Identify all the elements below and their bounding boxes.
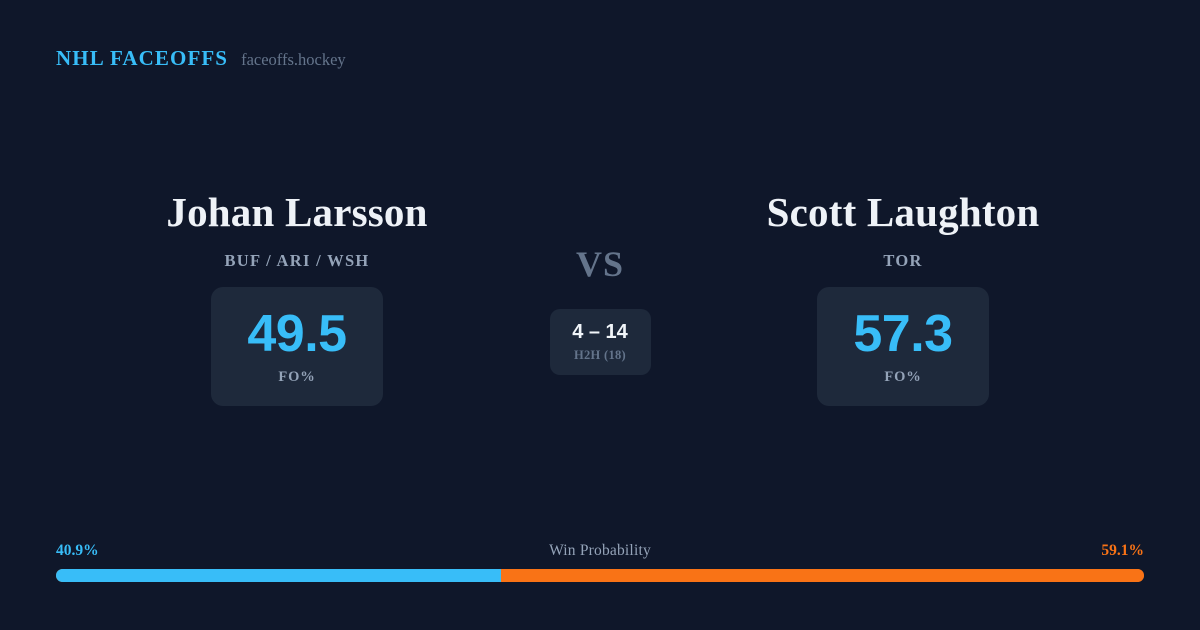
win-probability-bar-left-segment bbox=[56, 569, 501, 582]
win-probability-section: 40.9% Win Probability 59.1% bbox=[56, 542, 1144, 582]
versus-label: VS bbox=[576, 246, 624, 282]
win-probability-bar-right-segment bbox=[501, 569, 1144, 582]
player-card-left: Johan Larsson BUF / ARI / WSH 49.5 FO% bbox=[69, 190, 525, 406]
faceoff-pct-value-left: 49.5 bbox=[247, 308, 346, 360]
site-header: NHL FACEOFFS faceoffs.hockey bbox=[56, 46, 346, 71]
head-to-head-record: 4 – 14 bbox=[572, 322, 628, 342]
head-to-head-label: H2H (18) bbox=[574, 348, 626, 363]
head-to-head-card: 4 – 14 H2H (18) bbox=[550, 309, 651, 375]
site-domain-label: faceoffs.hockey bbox=[241, 50, 346, 70]
stat-card-left: 49.5 FO% bbox=[211, 287, 383, 406]
versus-column: VS 4 – 14 H2H (18) bbox=[525, 190, 675, 375]
win-probability-right-pct: 59.1% bbox=[1101, 542, 1144, 560]
player-teams-right: TOR bbox=[883, 251, 922, 271]
matchup-section: Johan Larsson BUF / ARI / WSH 49.5 FO% V… bbox=[0, 190, 1200, 406]
player-card-right: Scott Laughton TOR 57.3 FO% bbox=[675, 190, 1131, 406]
faceoff-pct-label-right: FO% bbox=[884, 369, 921, 386]
player-name-left: Johan Larsson bbox=[166, 190, 427, 234]
win-probability-title: Win Probability bbox=[549, 542, 651, 560]
win-probability-labels: 40.9% Win Probability 59.1% bbox=[56, 542, 1144, 560]
player-name-right: Scott Laughton bbox=[767, 190, 1040, 234]
win-probability-bar bbox=[56, 569, 1144, 582]
player-teams-left: BUF / ARI / WSH bbox=[224, 251, 369, 271]
faceoff-pct-value-right: 57.3 bbox=[853, 308, 952, 360]
stat-card-right: 57.3 FO% bbox=[817, 287, 989, 406]
brand-title: NHL FACEOFFS bbox=[56, 46, 228, 71]
faceoff-pct-label-left: FO% bbox=[278, 369, 315, 386]
win-probability-left-pct: 40.9% bbox=[56, 542, 99, 560]
